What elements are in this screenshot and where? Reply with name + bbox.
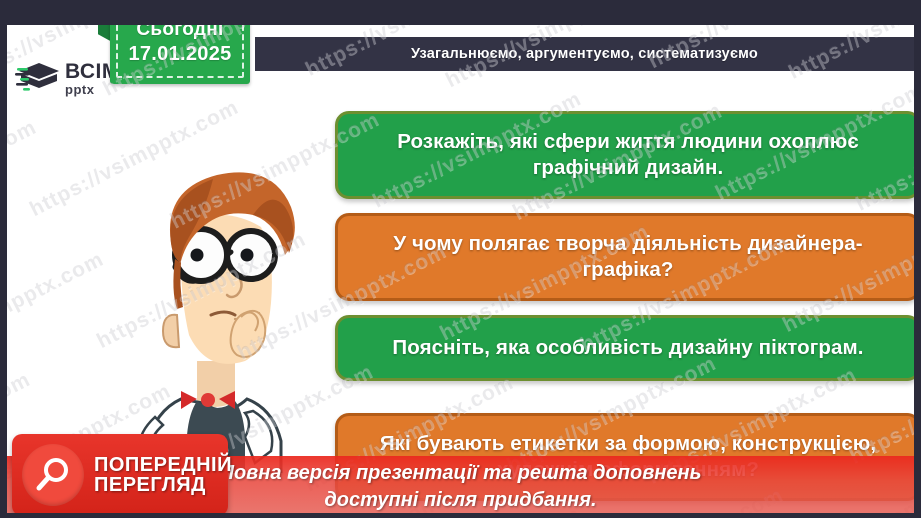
today-date: 17.01.2025 [128,43,231,66]
magnifier-icon [22,444,84,506]
frame-edge-left [0,0,7,518]
preview-badge[interactable]: ПОПЕРЕДНІЙ ПЕРЕГЛЯД [12,434,228,516]
question-box-2[interactable]: У чому полягає творча діяльність дизайне… [335,213,914,301]
page-title: Узагальнюємо, аргументуємо, систематизує… [411,46,758,62]
question-text: У чому полягає творча діяльність дизайне… [360,231,896,283]
preview-line-1: ПОПЕРЕДНІЙ [94,455,232,475]
notice-line-1: Повна версія презентації та решта доповн… [220,460,702,487]
boy-svg [85,163,343,473]
preview-line-2: ПЕРЕГЛЯД [94,475,232,495]
question-box-1[interactable]: Розкажіть, які сфери життя людини охоплю… [335,111,914,199]
slide-viewer: Розкажіть, які сфери життя людини охоплю… [0,0,921,518]
slide-header-bar: Узагальнюємо, аргументуємо, систематизує… [255,37,914,71]
frame-edge-top [0,0,921,25]
graduation-cap-icon [15,59,61,99]
frame-edge-right [914,0,921,518]
preview-labels: ПОПЕРЕДНІЙ ПЕРЕГЛЯД [94,455,232,496]
notice-line-2: доступні після придбання. [324,487,596,514]
question-text: Розкажіть, які сфери життя людини охоплю… [360,129,896,181]
question-text: Поясніть, яка особливість дизайну піктог… [392,335,863,361]
logo-subtitle: pptx [65,82,94,97]
thinking-boy-illustration [85,163,343,473]
question-box-3[interactable]: Поясніть, яка особливість дизайну піктог… [335,315,914,381]
frame-edge-bottom [0,513,921,518]
